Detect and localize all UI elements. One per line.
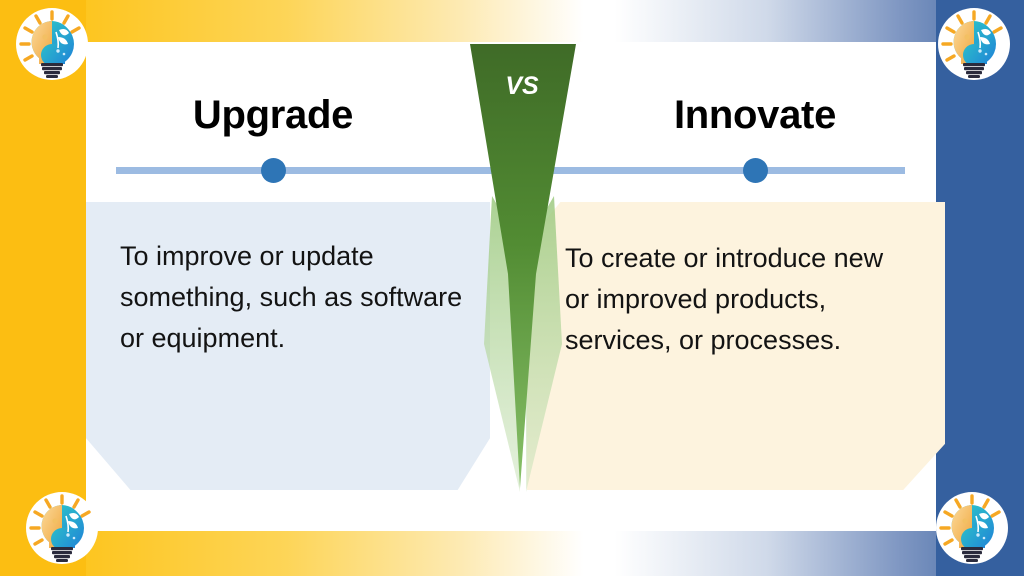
left-node-marker [261, 158, 286, 183]
brand-logo-top-right [936, 6, 1012, 82]
brand-logo-bottom-right [934, 490, 1010, 566]
right-column-body: To create or introduce new or improved p… [565, 238, 905, 361]
right-column-title: Innovate [595, 93, 915, 138]
brand-logo-bottom-left [24, 490, 100, 566]
vs-text: VS [462, 72, 582, 101]
frame-band-top [0, 0, 1024, 44]
right-node-marker [743, 158, 768, 183]
left-column-title: Upgrade [113, 93, 433, 138]
frame-band-bottom [0, 531, 1024, 576]
slide-canvas: VS Upgrade Innovate To improve or update… [0, 0, 1024, 576]
brand-logo-top-left [14, 6, 90, 82]
vs-wedge [462, 44, 582, 492]
left-column-body: To improve or update something, such as … [120, 236, 470, 359]
